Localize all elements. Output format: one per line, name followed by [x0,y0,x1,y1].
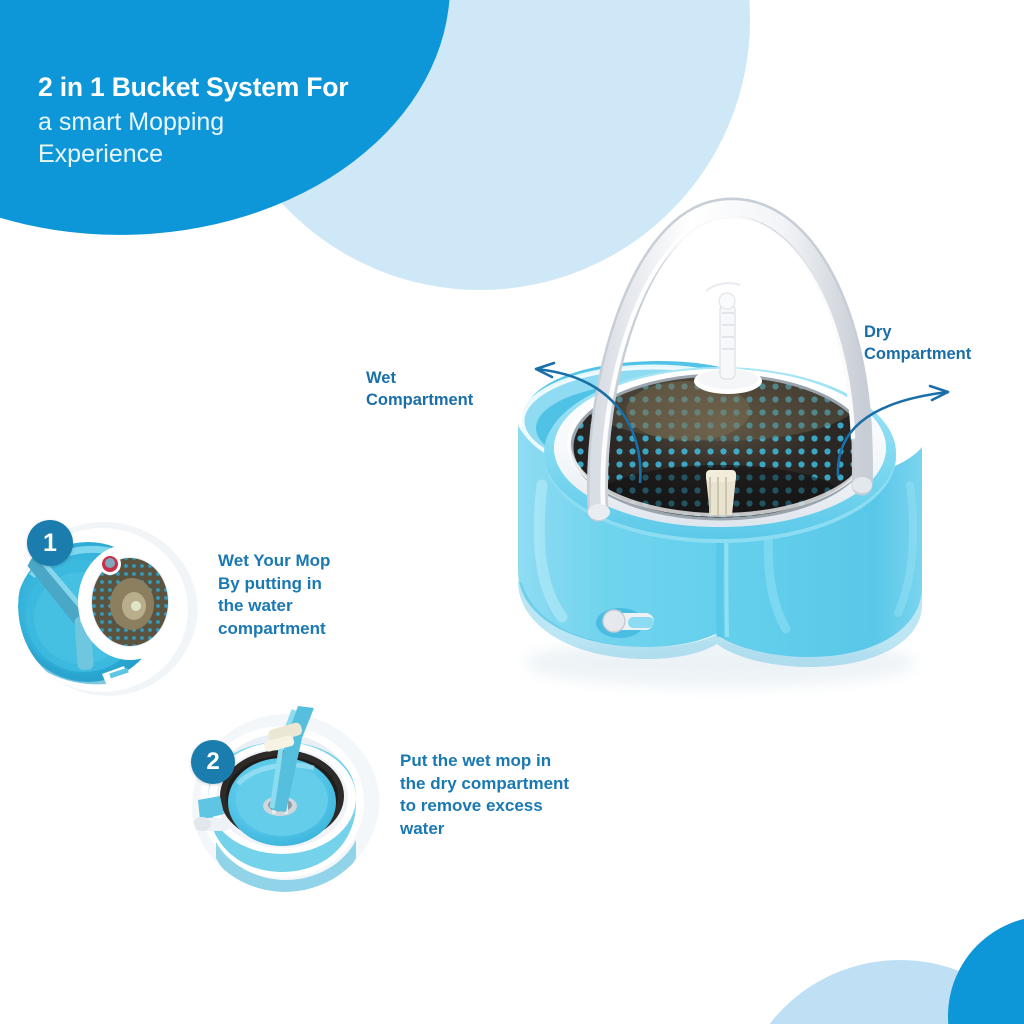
step-1-text: Wet Your Mop By putting in the water com… [218,550,408,640]
page-title-line-2: a smart Mopping [38,106,458,138]
step-2-number-badge: 2 [191,740,235,784]
callout-dry-line-1: Dry [864,322,971,344]
header-title-block: 2 in 1 Bucket System For a smart Mopping… [38,72,458,170]
step-1-line-3: the water [218,595,408,618]
callout-wet-compartment: Wet Compartment [366,368,473,412]
spinner-spindle [706,470,736,515]
callout-dry-compartment: Dry Compartment [864,322,971,366]
step-1-line-4: compartment [218,618,408,641]
step-2-line-3: to remove excess [400,795,640,818]
page-title-line-1: 2 in 1 Bucket System For [38,72,458,103]
callout-dry-line-2: Compartment [864,344,971,366]
pump-lever [694,280,762,394]
callout-wet-line-1: Wet [366,368,473,390]
infographic-canvas: 2 in 1 Bucket System For a smart Mopping… [0,0,1024,1024]
page-title-line-3: Experience [38,138,458,170]
product-illustration-spin-mop-bucket [470,185,940,705]
step-1-line-1: Wet Your Mop [218,550,408,573]
step-2-text: Put the wet mop in the dry compartment t… [400,750,640,840]
step-1-number-badge: 1 [27,520,73,566]
step-2-line-1: Put the wet mop in [400,750,640,773]
step-2-line-4: water [400,818,640,841]
step-1-line-2: By putting in [218,573,408,596]
decorative-brand-blue-circle-bottom [948,916,1024,1024]
step-2-photo [190,702,380,892]
callout-wet-line-2: Compartment [366,390,473,412]
step-2-line-2: the dry compartment [400,773,640,796]
step-2: Put the wet mop in the dry compartment t… [170,690,650,900]
